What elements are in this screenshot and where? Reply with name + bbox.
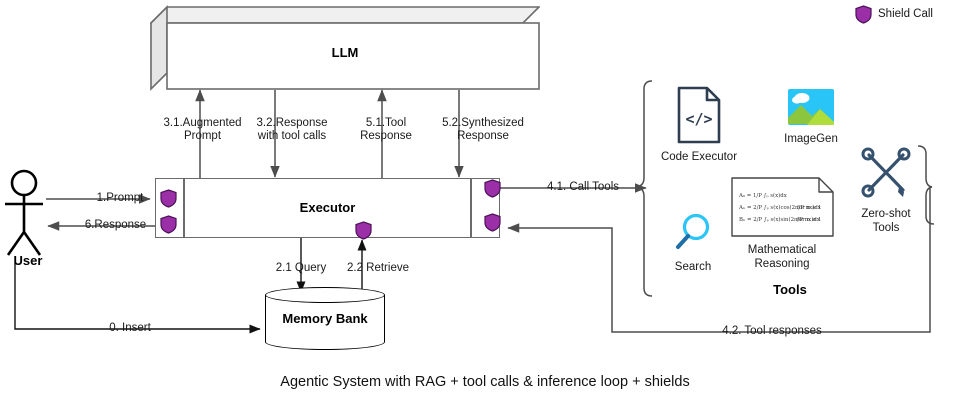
- svg-text:for n ≥ 1: for n ≥ 1: [797, 217, 821, 223]
- edge-label-insert: 0. Insert: [75, 322, 185, 335]
- tool-search[interactable]: Search: [658, 212, 728, 275]
- executor-label: Executor: [155, 200, 500, 215]
- tool-code-executor-label: Code Executor: [655, 151, 743, 165]
- edge-label-retrieve: 2.2 Retrieve: [328, 262, 428, 275]
- tool-zero-shot-tools[interactable]: Zero-shot Tools: [845, 145, 927, 235]
- memory-bank-top: [265, 287, 385, 303]
- shield-icon-tool-responses[interactable]: [484, 213, 501, 232]
- user-label: User: [0, 253, 56, 268]
- svg-text:for n ≥ 1: for n ≥ 1: [797, 205, 821, 211]
- legend-shield-icon: [855, 5, 872, 24]
- tool-imagegen-label: ImageGen: [765, 133, 857, 147]
- tool-mathematical-reasoning-label: Mathematical Reasoning: [727, 244, 837, 271]
- code-executor-icon: </>: [676, 86, 722, 144]
- diagram-caption: Agentic System with RAG + tool calls & i…: [0, 374, 970, 390]
- llm-label: LLM: [150, 45, 540, 60]
- shield-icon-call-tools[interactable]: [484, 179, 501, 198]
- memory-bank-label: Memory Bank: [265, 311, 385, 326]
- edge-label-call-tools: 4.1. Call Tools: [528, 181, 638, 194]
- edge-label-tool-response: 5.1.Tool Response: [340, 117, 432, 143]
- imagegen-icon: [787, 88, 835, 126]
- edge-label-prompt: 1.Prompt: [70, 192, 170, 205]
- user-figure: [5, 171, 43, 255]
- edge-label-response: 6.Response: [63, 219, 168, 232]
- shield-icon-memory[interactable]: [355, 221, 372, 240]
- mathematical-reasoning-icon: A₀ = 1/P ∫ₚ s(x)dx Aₙ = 2/P ∫ₚ s(x)cos(2…: [731, 177, 834, 237]
- edge-label-synthesized-response: 5.2.Synthesized Response: [424, 117, 542, 143]
- tools-group-label: Tools: [700, 282, 880, 297]
- svg-text:A₀ = 1/P ∫ₚ s(x)dx: A₀ = 1/P ∫ₚ s(x)dx: [738, 192, 787, 199]
- edge-label-tool-responses: 4.2. Tool responses: [667, 325, 877, 338]
- tool-code-executor[interactable]: </> Code Executor: [655, 86, 743, 165]
- zero-shot-tools-icon: [858, 145, 914, 201]
- edge-insert: [15, 262, 260, 329]
- legend-label: Shield Call: [878, 8, 933, 20]
- svg-text:</>: </>: [685, 110, 712, 128]
- search-icon: [673, 212, 713, 254]
- tool-imagegen[interactable]: ImageGen: [765, 88, 857, 147]
- tool-mathematical-reasoning[interactable]: A₀ = 1/P ∫ₚ s(x)dx Aₙ = 2/P ∫ₚ s(x)cos(2…: [727, 177, 837, 271]
- tool-zero-shot-tools-label: Zero-shot Tools: [845, 208, 927, 235]
- tool-search-label: Search: [658, 261, 728, 275]
- edge-label-response-tool-calls: 3.2.Response with tool calls: [232, 117, 352, 143]
